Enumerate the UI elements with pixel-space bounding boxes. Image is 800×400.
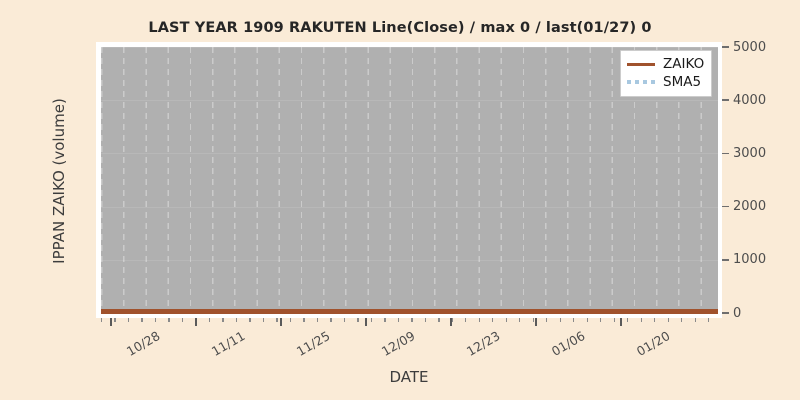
x-axis-minor-tick	[695, 318, 696, 322]
x-tick-label: 01/20	[634, 328, 673, 359]
chart-figure: LAST YEAR 1909 RAKUTEN Line(Close) / max…	[0, 0, 800, 400]
x-axis-minor-tick	[114, 318, 115, 322]
x-tick-label: 11/25	[294, 328, 333, 359]
x-axis-minor-tick	[384, 318, 385, 322]
x-tick-label: 12/09	[379, 328, 418, 359]
y-tick-label: 0	[733, 306, 741, 321]
x-axis-minor-tick	[182, 318, 183, 322]
x-axis-minor-tick	[519, 318, 520, 322]
x-axis-major-tick	[450, 318, 452, 326]
y-tick-label: 2000	[733, 199, 766, 214]
x-axis-minor-tick	[236, 318, 237, 322]
x-tick-label: 10/28	[124, 328, 163, 359]
x-axis-minor-tick	[344, 318, 345, 322]
legend-swatch-zaiko-icon	[627, 58, 655, 70]
x-axis-labels: 10/2811/1111/2512/0912/2301/0601/20	[96, 326, 722, 374]
y-tick-label: 5000	[733, 40, 766, 55]
x-axis-minor-tick	[276, 318, 277, 322]
x-axis-minor-tick	[371, 318, 372, 322]
x-axis-minor-tick	[546, 318, 547, 322]
y-tick-label: 3000	[733, 146, 766, 161]
y-axis-title: IPPAN ZAIKO (volume)	[50, 66, 68, 296]
legend-item-sma5[interactable]: SMA5	[627, 73, 704, 91]
x-axis-minor-tick	[155, 318, 156, 322]
y-tick-mark-icon	[722, 46, 729, 48]
chart-title: LAST YEAR 1909 RAKUTEN Line(Close) / max…	[0, 20, 800, 36]
horizontal-gridline	[101, 47, 718, 48]
legend-label-zaiko: ZAIKO	[663, 56, 704, 72]
x-axis-major-tick	[620, 318, 622, 326]
x-axis-minor-tick	[587, 318, 588, 322]
x-axis-major-tick	[535, 318, 537, 326]
x-axis-minor-tick	[506, 318, 507, 322]
x-axis-minor-tick	[600, 318, 601, 322]
x-axis-minor-tick	[222, 318, 223, 322]
x-axis-minor-tick	[614, 318, 615, 322]
x-axis-minor-tick	[101, 318, 102, 322]
x-axis-minor-tick	[290, 318, 291, 322]
x-axis-minor-tick	[641, 318, 642, 322]
x-axis-minor-tick	[560, 318, 561, 322]
y-tick-mark-icon	[722, 153, 729, 155]
x-axis-minor-tick	[438, 318, 439, 322]
x-axis-title: DATE	[96, 368, 722, 386]
x-axis-minor-tick	[411, 318, 412, 322]
horizontal-gridline	[101, 207, 718, 208]
x-axis-minor-tick	[708, 318, 709, 322]
x-axis-minor-tick	[681, 318, 682, 322]
x-axis-minor-tick	[465, 318, 466, 322]
chart-legend[interactable]: ZAIKO SMA5	[620, 50, 712, 97]
x-axis-minor-tick	[668, 318, 669, 322]
x-axis-major-tick	[195, 318, 197, 326]
x-axis-minor-tick	[398, 318, 399, 322]
x-axis-minor-tick	[249, 318, 250, 322]
x-axis-minor-tick	[128, 318, 129, 322]
legend-item-zaiko[interactable]: ZAIKO	[627, 55, 704, 73]
horizontal-gridline	[101, 260, 718, 261]
x-axis-minor-tick	[330, 318, 331, 322]
x-axis-major-tick	[110, 318, 112, 326]
x-axis-minor-tick	[492, 318, 493, 322]
x-axis-minor-tick	[303, 318, 304, 322]
x-axis-minor-tick	[654, 318, 655, 322]
y-tick-label: 4000	[733, 93, 766, 108]
x-axis-minor-tick	[141, 318, 142, 322]
x-tick-label: 01/06	[549, 328, 588, 359]
y-tick-mark-icon	[722, 206, 729, 208]
y-tick-mark-icon	[722, 99, 729, 101]
x-axis-minor-tick	[452, 318, 453, 322]
legend-swatch-sma5-icon	[627, 76, 655, 88]
x-axis-minor-tick	[209, 318, 210, 322]
y-axis: 010002000300040005000	[722, 42, 792, 318]
x-axis-major-tick	[280, 318, 282, 326]
x-axis-minor-tick	[479, 318, 480, 322]
x-axis-minor-tick	[425, 318, 426, 322]
x-axis-minor-tick	[168, 318, 169, 322]
x-axis-minor-tick	[263, 318, 264, 322]
x-axis-minor-tick	[533, 318, 534, 322]
x-axis-minor-tick	[573, 318, 574, 322]
horizontal-gridline	[101, 153, 718, 154]
x-axis-minor-tick	[357, 318, 358, 322]
x-axis-major-tick	[365, 318, 367, 326]
y-tick-mark-icon	[722, 312, 729, 314]
series-line-zaiko	[101, 309, 718, 314]
horizontal-gridline	[101, 100, 718, 101]
x-axis-minor-tick	[317, 318, 318, 322]
y-tick-mark-icon	[722, 259, 729, 261]
y-tick-label: 1000	[733, 252, 766, 267]
x-tick-label: 11/11	[209, 328, 248, 359]
legend-label-sma5: SMA5	[663, 74, 701, 90]
x-tick-label: 12/23	[464, 328, 503, 359]
x-axis-minor-tick	[627, 318, 628, 322]
